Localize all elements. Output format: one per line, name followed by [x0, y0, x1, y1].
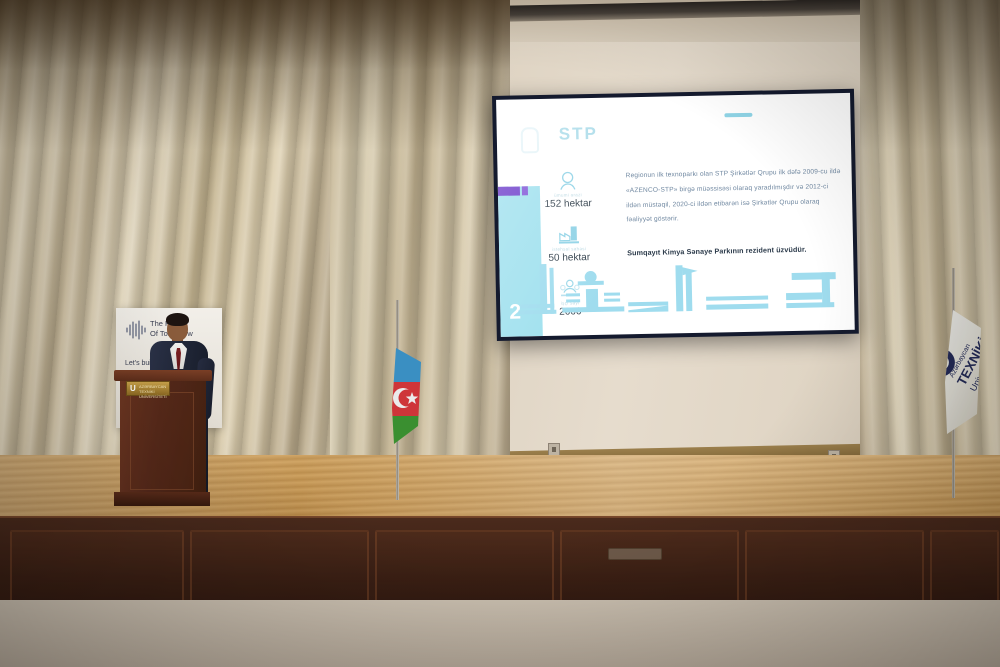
plaque-line-3: UNİVERSİTETİ — [139, 395, 167, 400]
plaque-text: AZƏRBAYCAN TEXNİKİ UNİVERSİTETİ — [139, 385, 167, 399]
soundwave-logo-icon — [125, 320, 147, 340]
podium-panel — [130, 392, 194, 490]
stat-item: ümumi ərazi 152 hektar — [522, 170, 615, 211]
title-dash-accent — [724, 113, 752, 118]
location-pin-icon — [522, 170, 614, 193]
sidebar-purple-accent — [498, 186, 520, 195]
university-flag: Azərbaycan TEXNİKİ Universiteti — [925, 310, 983, 434]
stat-value: 152 hektar — [522, 198, 614, 211]
conference-hall-photo: STP 2 ümumi ərazi 152 hektar — [0, 0, 1000, 667]
factory-icon — [523, 224, 615, 247]
curtain-shadow — [860, 0, 1000, 150]
floor-vent-grille — [608, 548, 662, 560]
azerbaijan-flag — [374, 348, 424, 444]
slide-body-text: Regionun ilk texnoparkı olan STP Şirkətl… — [625, 165, 844, 229]
industrial-skyline-illustration — [499, 258, 854, 323]
podium-plaque: U AZƏRBAYCAN TEXNİKİ UNİVERSİTETİ — [126, 381, 170, 396]
lightbulb-icon — [521, 127, 540, 153]
presentation-slide: STP 2 ümumi ərazi 152 hektar — [496, 93, 855, 337]
podium-base — [114, 492, 210, 506]
speaker-hair — [166, 313, 189, 326]
projection-screen[interactable]: STP 2 ümumi ərazi 152 hektar — [492, 89, 859, 341]
slide-title: STP — [559, 124, 598, 145]
podium-top — [114, 370, 212, 381]
slide-highlight-text: Sumqayıt Kimya Sənaye Parkının rezident … — [627, 244, 845, 257]
auditorium-floor — [0, 600, 1000, 667]
plaque-u-mark: U — [130, 384, 137, 393]
stat-item: istehsal sahəsi 50 hektar — [523, 224, 616, 265]
ceiling-shadow — [0, 0, 510, 70]
